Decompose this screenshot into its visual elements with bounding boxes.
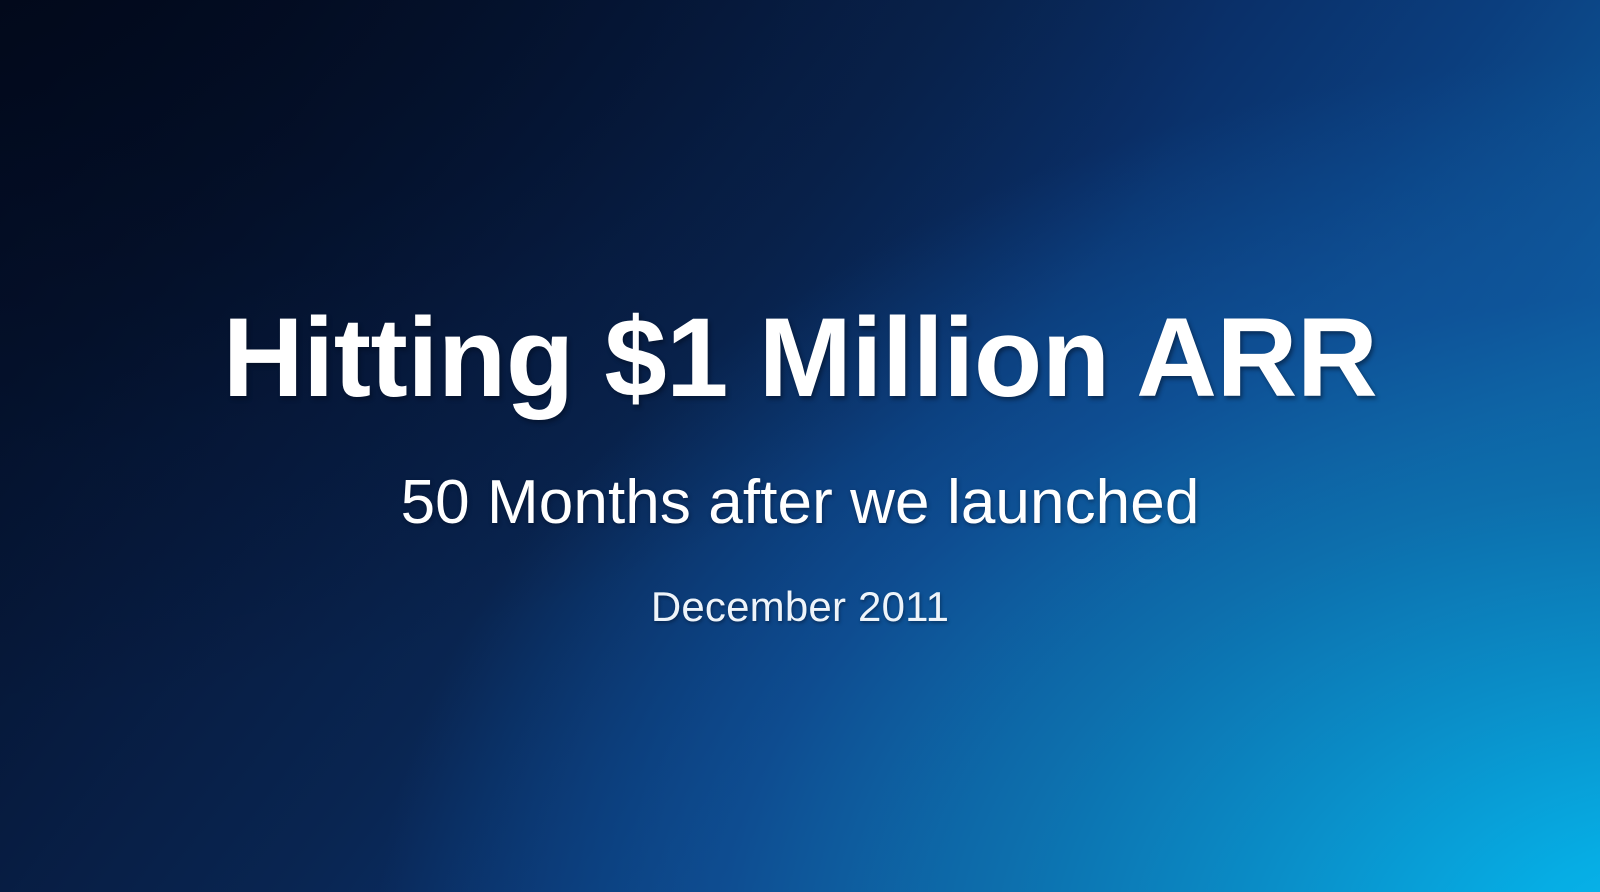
slide-text-block: Hitting $1 Million ARR 50 Months after w…: [0, 0, 1600, 892]
presentation-slide: Hitting $1 Million ARR 50 Months after w…: [0, 0, 1600, 892]
slide-date: December 2011: [0, 586, 1600, 628]
page-title: Hitting $1 Million ARR: [0, 302, 1600, 414]
slide-subtitle: 50 Months after we launched: [0, 472, 1600, 534]
